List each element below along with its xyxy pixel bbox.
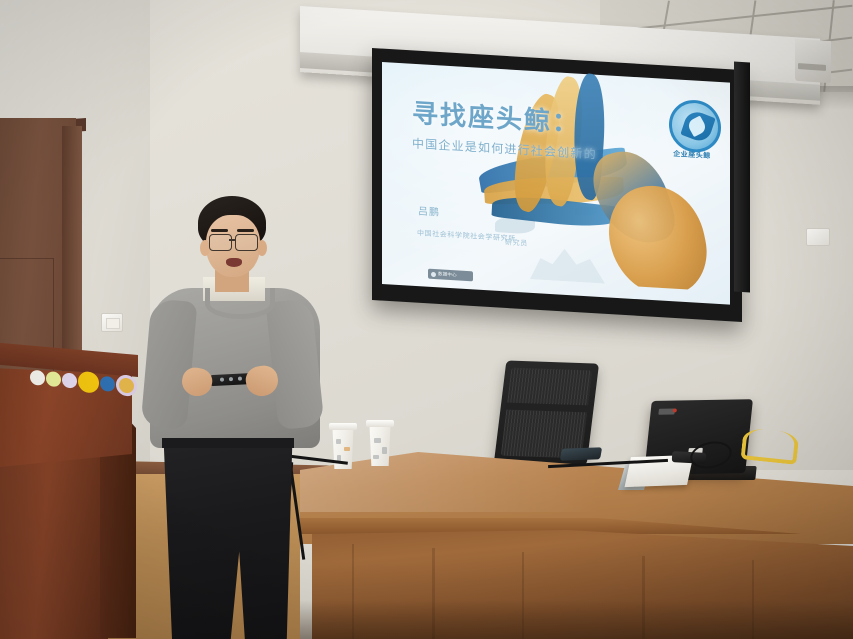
screen-right-edge bbox=[734, 62, 750, 293]
cup-lid bbox=[366, 420, 394, 427]
desk-shadow bbox=[300, 600, 853, 639]
slide-speaker-role: 研究员 bbox=[505, 237, 528, 248]
presenter-trousers bbox=[158, 440, 298, 639]
glasses-lens bbox=[209, 234, 232, 251]
presenter-ear bbox=[257, 240, 267, 256]
logo-text: 企业座头鲸 bbox=[666, 148, 718, 161]
paper-cup[interactable] bbox=[368, 424, 392, 466]
presenter-eyebrow bbox=[211, 229, 228, 232]
slide-badge-label: 数据中心 bbox=[438, 271, 457, 278]
ship-silhouette bbox=[530, 243, 605, 283]
chair-mesh-back bbox=[501, 368, 592, 459]
presenter-waist bbox=[162, 438, 294, 448]
sweater-neckline bbox=[205, 288, 275, 319]
slide-logo: 企业座头鲸 bbox=[666, 98, 718, 167]
cup-lid bbox=[329, 423, 357, 430]
slide-speaker-name: 吕鹏 bbox=[418, 202, 440, 218]
badge-icon bbox=[431, 271, 436, 276]
presenter-eyebrow bbox=[237, 229, 254, 232]
podium-column bbox=[0, 455, 108, 639]
presenter-mouth bbox=[226, 258, 242, 267]
whale-tail-artwork bbox=[470, 55, 720, 292]
conference-room-photo: 寻找座头鲸： 中国企业是如何进行社会创新的 吕鹏 中国社会科学院社会学研究所 研… bbox=[0, 0, 853, 639]
glasses-bridge bbox=[229, 239, 236, 241]
remote-control[interactable] bbox=[560, 447, 602, 460]
logo-circle-icon bbox=[669, 99, 721, 154]
valance-end-cap bbox=[795, 39, 831, 83]
wall-outlet[interactable] bbox=[806, 228, 830, 246]
laptop-logo-dot-icon bbox=[673, 408, 677, 412]
glasses-lens bbox=[235, 234, 258, 251]
light-switch[interactable] bbox=[101, 313, 123, 332]
